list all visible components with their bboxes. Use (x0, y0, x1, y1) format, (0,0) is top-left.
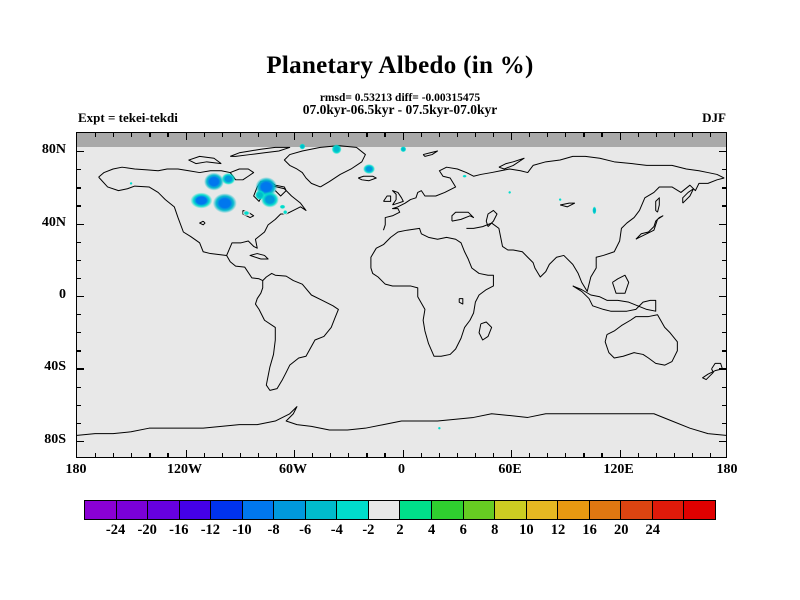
lon-tick (439, 133, 440, 137)
colorbar-swatch (148, 501, 180, 519)
colorbar-swatch (306, 501, 338, 519)
lon-tick (638, 133, 639, 137)
lon-tick (222, 453, 223, 457)
lat-tick (719, 296, 726, 297)
lon-tick (475, 453, 476, 457)
lat-tick (77, 387, 81, 388)
lon-tick (421, 133, 422, 137)
lat-tick (77, 350, 81, 351)
colorbar-swatch (464, 501, 496, 519)
lon-tick (384, 133, 385, 137)
lon-tick (240, 453, 241, 457)
lat-tick (77, 151, 84, 152)
lon-tick (656, 453, 657, 457)
lon-tick (511, 133, 512, 140)
lon-axis-label: 60E (475, 462, 545, 478)
lat-tick (722, 332, 726, 333)
lat-tick (77, 368, 84, 369)
lon-tick (348, 453, 349, 457)
lat-tick (77, 187, 81, 188)
colorbar-swatch (527, 501, 559, 519)
lon-tick (547, 453, 548, 457)
season-label: DJF (702, 110, 726, 126)
lon-tick (692, 453, 693, 457)
anomaly-patch (221, 173, 235, 185)
lon-tick (149, 453, 150, 457)
lon-tick (348, 133, 349, 137)
lat-tick (77, 205, 81, 206)
colorbar-swatch (621, 501, 653, 519)
lat-tick (719, 368, 726, 369)
lon-tick (276, 453, 277, 457)
lat-tick (719, 441, 726, 442)
colorbar-swatch (400, 501, 432, 519)
colorbar-tick-label: 24 (628, 522, 678, 539)
lon-tick (204, 453, 205, 457)
anomaly-patch (282, 209, 288, 215)
anomaly-patch (558, 198, 562, 202)
colorbar-swatch (432, 501, 464, 519)
lon-tick (421, 453, 422, 457)
lon-tick (710, 133, 711, 137)
lon-tick (529, 133, 530, 137)
lat-axis-label: 80S (6, 432, 66, 448)
colorbar-swatch (653, 501, 685, 519)
lon-tick (186, 450, 187, 457)
lon-tick (186, 133, 187, 140)
lat-tick (77, 314, 81, 315)
lon-axis-label: 0 (367, 462, 437, 478)
figure-canvas: Planetary Albedo (in %) rmsd= 0.53213 di… (0, 0, 800, 600)
lon-tick (457, 133, 458, 137)
lon-tick (312, 453, 313, 457)
colorbar-swatch (558, 501, 590, 519)
lon-tick (620, 133, 621, 140)
lat-tick (722, 350, 726, 351)
lon-axis-label: 120E (584, 462, 654, 478)
colorbar-swatch (243, 501, 275, 519)
lat-tick (719, 151, 726, 152)
lon-tick (638, 453, 639, 457)
lon-tick (511, 450, 512, 457)
lat-tick (722, 260, 726, 261)
lon-tick (384, 453, 385, 457)
lat-tick (77, 169, 81, 170)
colorbar-swatch (85, 501, 117, 519)
lon-tick (113, 453, 114, 457)
page-title: Planetary Albedo (in %) (0, 52, 800, 80)
colorbar-swatch (590, 501, 622, 519)
lat-tick (722, 187, 726, 188)
lon-tick (366, 133, 367, 137)
lon-axis-label: 180 (692, 462, 762, 478)
anomaly-patch (129, 181, 133, 185)
lat-tick (77, 260, 81, 261)
lat-tick (722, 278, 726, 279)
lon-tick (95, 133, 96, 137)
lon-tick (656, 133, 657, 137)
lat-tick (77, 224, 84, 225)
lon-tick (583, 453, 584, 457)
lon-tick (601, 133, 602, 137)
colorbar (84, 500, 716, 520)
colorbar-swatch (495, 501, 527, 519)
lon-tick (204, 133, 205, 137)
anomaly-patch (508, 190, 512, 194)
lat-tick (722, 405, 726, 406)
colorbar-swatch (337, 501, 369, 519)
anomaly-patch (332, 144, 342, 154)
lon-tick (131, 133, 132, 137)
anomaly-patch (213, 193, 237, 213)
experiment-label: Expt = tekei-tekdi (78, 110, 178, 126)
lon-tick (294, 450, 295, 457)
anomaly-patch (462, 174, 468, 178)
lat-tick (722, 423, 726, 424)
anomaly-patch (190, 193, 212, 209)
lon-tick (583, 133, 584, 137)
lat-tick (77, 278, 81, 279)
lon-tick (565, 453, 566, 457)
lon-tick (366, 453, 367, 457)
lat-tick (722, 205, 726, 206)
lon-tick (167, 453, 168, 457)
lon-tick (95, 453, 96, 457)
lon-tick (620, 450, 621, 457)
lat-tick (77, 296, 84, 297)
lon-tick (330, 133, 331, 137)
colorbar-swatch (369, 501, 401, 519)
lon-tick (601, 453, 602, 457)
lon-tick (529, 453, 530, 457)
lon-tick (710, 453, 711, 457)
colorbar-swatch (274, 501, 306, 519)
lon-tick (330, 453, 331, 457)
lon-tick (547, 133, 548, 137)
colorbar-swatch (180, 501, 212, 519)
lon-tick (276, 133, 277, 137)
lat-tick (77, 332, 81, 333)
lon-tick (149, 133, 150, 137)
lon-tick (403, 133, 404, 140)
lon-tick (674, 133, 675, 137)
lon-tick (565, 133, 566, 137)
lon-axis-label: 180 (41, 462, 111, 478)
lon-tick (475, 133, 476, 137)
lon-axis-label: 60W (258, 462, 328, 478)
colorbar-swatch (211, 501, 243, 519)
lat-tick (722, 387, 726, 388)
lat-tick (722, 169, 726, 170)
lat-tick (719, 224, 726, 225)
colorbar-swatch (684, 501, 715, 519)
colorbar-swatch (117, 501, 149, 519)
anomaly-overlay (77, 133, 726, 457)
lon-tick (258, 133, 259, 137)
anomaly-patch (400, 146, 406, 152)
lon-tick (222, 133, 223, 137)
map-plot-area (76, 132, 727, 458)
lon-tick (258, 453, 259, 457)
lat-tick (77, 441, 84, 442)
lon-tick (674, 453, 675, 457)
lon-tick (493, 133, 494, 137)
anomaly-patch (299, 144, 305, 150)
anomaly-patch (279, 204, 287, 210)
lat-axis-label: 40N (6, 215, 66, 231)
anomaly-patch (592, 206, 596, 214)
lon-tick (113, 133, 114, 137)
lat-tick (77, 405, 81, 406)
lon-tick (131, 453, 132, 457)
anomaly-patch (363, 164, 375, 174)
lon-tick (439, 453, 440, 457)
anomaly-patch (437, 426, 441, 430)
lat-axis-label: 80N (6, 142, 66, 158)
lon-tick (240, 133, 241, 137)
lat-tick (77, 242, 81, 243)
anomaly-patch (255, 190, 265, 200)
lon-tick (294, 133, 295, 140)
lat-tick (722, 314, 726, 315)
lat-tick (77, 423, 81, 424)
lon-tick (403, 450, 404, 457)
lon-axis-label: 120W (150, 462, 220, 478)
lon-tick (692, 133, 693, 137)
lon-tick (457, 453, 458, 457)
lon-tick (312, 133, 313, 137)
anomaly-patch (242, 210, 250, 216)
anomaly-patch (204, 173, 224, 191)
lat-axis-label: 0 (6, 287, 66, 303)
lat-axis-label: 40S (6, 359, 66, 375)
lat-tick (722, 242, 726, 243)
lon-tick (167, 133, 168, 137)
lon-tick (493, 453, 494, 457)
